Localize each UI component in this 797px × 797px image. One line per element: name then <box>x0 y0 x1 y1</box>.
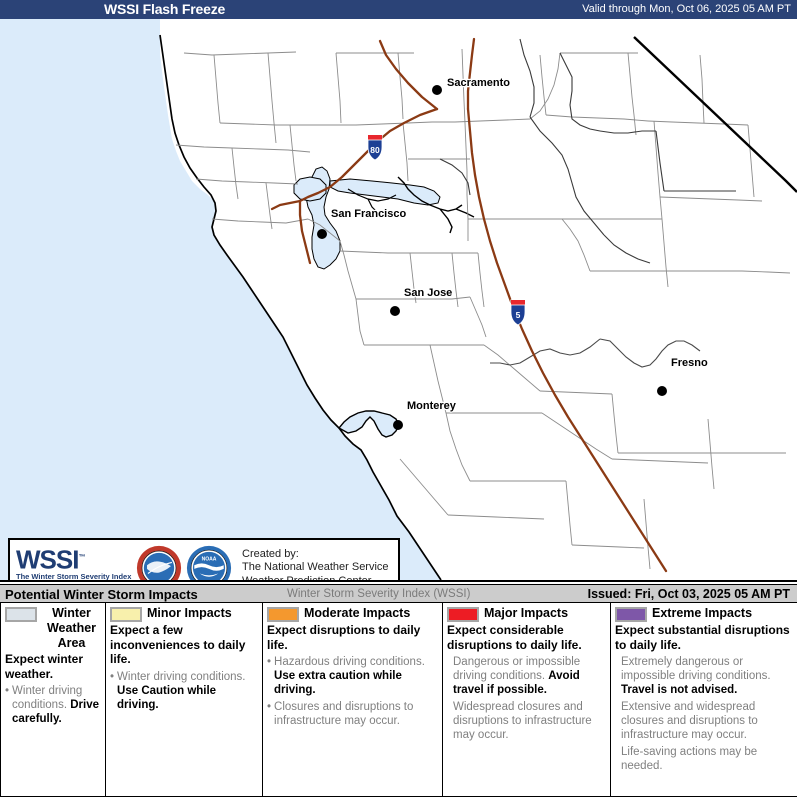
legend-bullet-emphasis: Travel is not advised. <box>621 684 737 696</box>
legend-header: Winter Weather Area <box>5 606 101 651</box>
city-dot-monterey <box>393 420 403 430</box>
legend-bullet-text: Hazardous driving conditions. Use extra … <box>274 655 438 697</box>
legend-bullet-text: Widespread closures and disruptions to i… <box>453 700 606 742</box>
legend-intro-text: Expect a few inconveniences to daily lif… <box>110 623 258 667</box>
map-canvas[interactable]: 80 5 Sacramento San Francisco San Jose M… <box>0 19 797 582</box>
wssi-wordmark-text: WSSI <box>16 545 78 575</box>
legend-column-extreme-impacts: Extreme ImpactsExpect substantial disrup… <box>611 603 797 797</box>
legend-color-swatch <box>267 607 299 622</box>
legend-bullet-normal: Widespread closures and disruptions to i… <box>453 701 592 741</box>
bullet-dot-icon: • <box>110 670 114 712</box>
credit-text: Created by: The National Weather Service… <box>242 548 389 582</box>
legend-bullet: •Winter driving conditions. Use Caution … <box>110 670 258 712</box>
legend-category-label: Winter Weather Area <box>42 606 101 651</box>
legend-title-left: Potential Winter Storm Impacts <box>5 587 198 602</box>
legend-category-label: Major Impacts <box>484 606 568 621</box>
legend-intro-text: Expect winter weather. <box>5 652 101 681</box>
legend-bullet-text: Extremely dangerous or impossible drivin… <box>621 655 793 697</box>
legend-column-moderate-impacts: Moderate ImpactsExpect disruptions to da… <box>263 603 443 797</box>
legend-bullet: Extensive and widespread closures and di… <box>615 700 793 742</box>
legend-bullet-text: Winter driving conditions. Drive careful… <box>12 684 101 726</box>
legend-bullet-normal: Extensive and widespread closures and di… <box>621 701 758 741</box>
map-graphic: 80 5 Sacramento San Francisco San Jose M… <box>0 19 797 580</box>
legend-bullet-text: Extensive and widespread closures and di… <box>621 700 793 742</box>
legend-intro-text: Expect considerable disruptions to daily… <box>447 623 606 652</box>
bullet-dot-icon: • <box>267 700 271 728</box>
city-dot-fresno <box>657 386 667 396</box>
legend-column-minor-impacts: Minor ImpactsExpect a few inconveniences… <box>106 603 263 797</box>
noaa-seal-icon: NOAA <box>186 545 232 582</box>
legend-bullet: Extremely dangerous or impossible drivin… <box>615 655 793 697</box>
wssi-credit-box: WSSI™ The Winter Storm Severity Index <box>8 538 400 582</box>
legend-bullet: Widespread closures and disruptions to i… <box>447 700 606 742</box>
legend-color-swatch <box>615 607 647 622</box>
nws-seal-icon <box>136 545 182 582</box>
svg-text:NOAA: NOAA <box>202 557 217 563</box>
legend-bullet-text: Dangerous or impossible driving conditio… <box>453 655 606 697</box>
legend-bullet-normal: Hazardous driving conditions. <box>274 656 425 668</box>
bullet-dot-icon: • <box>5 684 9 726</box>
legend-title-center: Winter Storm Severity Index (WSSI) <box>287 588 470 600</box>
legend-bullet: Dangerous or impossible driving conditio… <box>447 655 606 697</box>
legend-title-bar: Potential Winter Storm Impacts Winter St… <box>0 584 797 603</box>
legend-bullet-text: Closures and disruptions to infrastructu… <box>274 700 438 728</box>
city-label-san-francisco: San Francisco <box>331 208 406 220</box>
bullet-dot-icon: • <box>267 655 271 697</box>
credit-line-0: Created by: <box>242 548 389 562</box>
legend-column-winter-weather-area: Winter Weather AreaExpect winter weather… <box>0 603 106 797</box>
svg-text:80: 80 <box>370 145 380 155</box>
city-dot-sacramento <box>432 85 442 95</box>
legend-bullet: •Winter driving conditions. Drive carefu… <box>5 684 101 726</box>
wssi-subtitle: The Winter Storm Severity Index <box>16 572 132 581</box>
wssi-wordmark: WSSI™ <box>16 546 132 572</box>
legend-category-label: Minor Impacts <box>147 606 232 621</box>
city-label-san-jose: San Jose <box>404 287 452 299</box>
city-label-fresno: Fresno <box>671 357 708 369</box>
wssi-logo: WSSI™ The Winter Storm Severity Index <box>10 546 132 582</box>
legend-color-swatch <box>5 607 37 622</box>
legend-intro-text: Expect disruptions to daily life. <box>267 623 438 652</box>
legend-header: Major Impacts <box>447 606 606 622</box>
legend-bullet-text: Winter driving conditions. Use Caution w… <box>117 670 258 712</box>
page-title: WSSI Flash Freeze <box>104 1 225 17</box>
legend-header: Moderate Impacts <box>267 606 438 622</box>
legend-issued-text: Issued: Fri, Oct 03, 2025 05 AM PT <box>588 587 790 601</box>
legend-color-swatch <box>447 607 479 622</box>
svg-text:5: 5 <box>516 310 521 320</box>
legend-bullet-normal: Winter driving conditions. <box>117 671 245 683</box>
legend-intro-text: Expect substantial disruptions to daily … <box>615 623 793 652</box>
legend-bullet-emphasis: Use Caution while driving. <box>117 685 216 711</box>
credit-line-2: Weather Prediction Center <box>242 575 389 582</box>
legend-bullet-normal: Extremely dangerous or impossible drivin… <box>621 656 771 682</box>
legend-panel: Winter Weather AreaExpect winter weather… <box>0 603 797 797</box>
legend-bullet: Life-saving actions may be needed. <box>615 745 793 773</box>
wssi-map-page: WSSI Flash Freeze Valid through Mon, Oct… <box>0 0 797 797</box>
legend-header: Extreme Impacts <box>615 606 793 622</box>
legend-bullet-normal: Life-saving actions may be needed. <box>621 746 757 772</box>
legend-category-label: Extreme Impacts <box>652 606 752 621</box>
trademark-icon: ™ <box>78 554 84 561</box>
city-label-sacramento: Sacramento <box>447 77 510 89</box>
city-dot-san-jose <box>390 306 400 316</box>
legend-category-label: Moderate Impacts <box>304 606 410 621</box>
city-label-monterey: Monterey <box>407 400 457 412</box>
city-dot-san-francisco <box>317 229 327 239</box>
header-bar: WSSI Flash Freeze Valid through Mon, Oct… <box>0 0 797 19</box>
legend-color-swatch <box>110 607 142 622</box>
legend-bullet-normal: Closures and disruptions to infrastructu… <box>274 701 413 727</box>
valid-through-text: Valid through Mon, Oct 06, 2025 05 AM PT <box>582 3 791 15</box>
legend-column-major-impacts: Major ImpactsExpect considerable disrupt… <box>443 603 611 797</box>
legend-bullet-emphasis: Use extra caution while driving. <box>274 670 402 696</box>
legend-bullet-text: Life-saving actions may be needed. <box>621 745 793 773</box>
credit-line-1: The National Weather Service <box>242 561 389 575</box>
legend-bullet: •Hazardous driving conditions. Use extra… <box>267 655 438 697</box>
legend-bullet: •Closures and disruptions to infrastruct… <box>267 700 438 728</box>
legend-header: Minor Impacts <box>110 606 258 622</box>
